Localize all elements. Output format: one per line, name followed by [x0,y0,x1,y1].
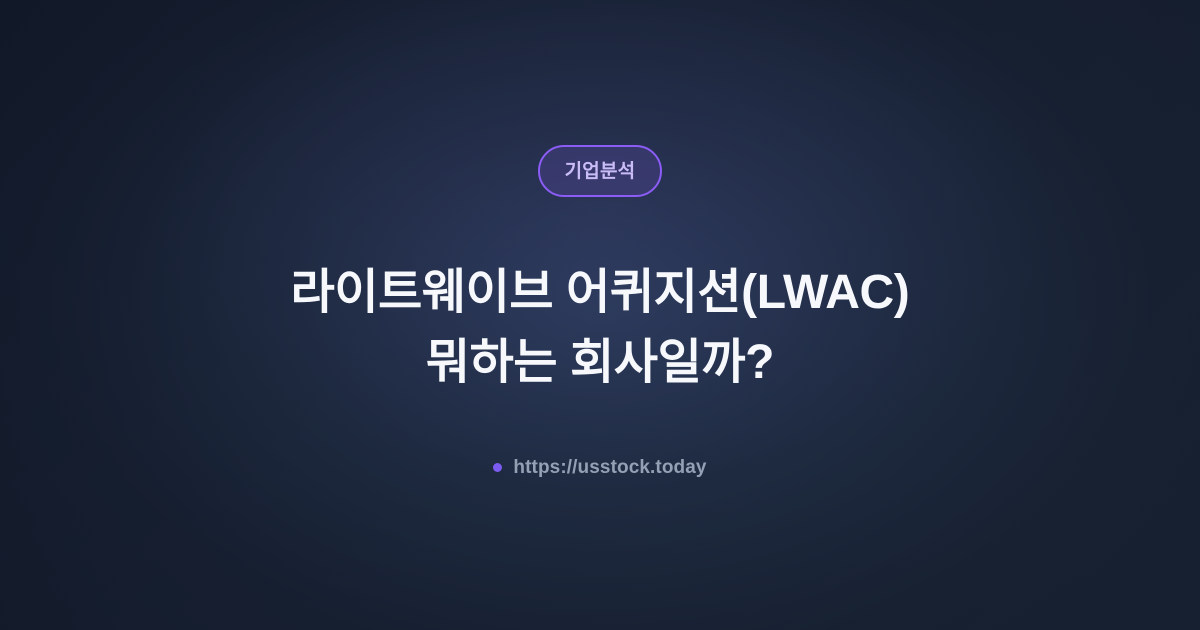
og-share-card: 기업분석 라이트웨이브 어퀴지션(LWAC) 뭐하는 회사일까? https:/… [0,0,1200,630]
site-url-row: https://usstock.today [493,457,706,479]
page-title: 라이트웨이브 어퀴지션(LWAC) 뭐하는 회사일까? [291,258,910,398]
category-badge: 기업분석 [538,145,663,197]
dot-bullet-icon [493,463,502,472]
card-content: 기업분석 라이트웨이브 어퀴지션(LWAC) 뭐하는 회사일까? https:/… [0,0,1200,630]
site-url-label: https://usstock.today [513,457,706,479]
page-title-line-2: 뭐하는 회사일까? [291,328,910,398]
page-title-line-1: 라이트웨이브 어퀴지션(LWAC) [291,258,910,328]
